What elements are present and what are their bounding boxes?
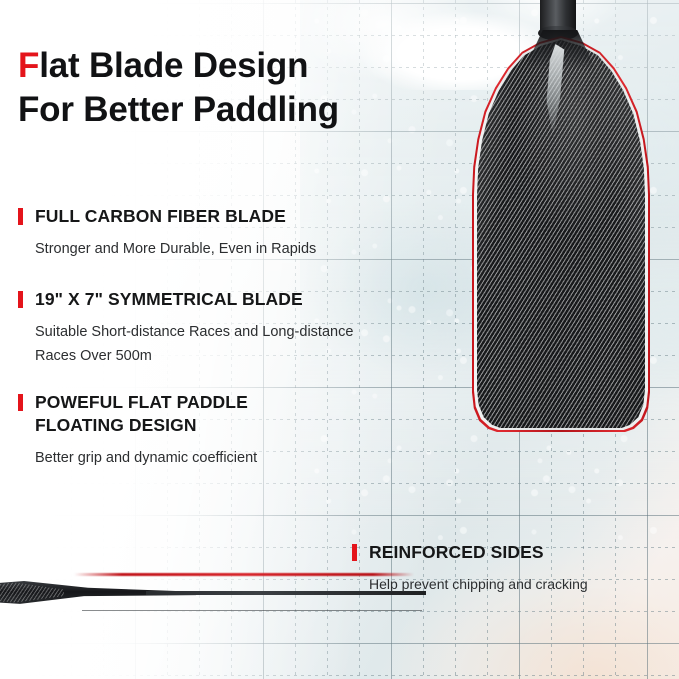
page-title: Flat Blade DesignFor Better Paddling	[18, 44, 339, 133]
feature-title: 19" X 7" SYMMETRICAL BLADE	[18, 288, 353, 311]
feature-item: POWEFUL FLAT PADDLE FLOATING DESIGN Bett…	[18, 391, 257, 470]
feature-item: REINFORCED SIDES Help prevent chipping a…	[352, 541, 588, 596]
profile-baseline	[82, 610, 422, 611]
blade-group	[466, 14, 656, 432]
feature-title: REINFORCED SIDES	[352, 541, 588, 564]
headline-accent-letter: F	[18, 46, 39, 85]
feature-title: FULL CARBON FIBER BLADE	[18, 205, 316, 228]
feature-description: Help prevent chipping and cracking	[352, 573, 588, 596]
headline-line-1: lat Blade Design	[39, 46, 308, 85]
feature-title: POWEFUL FLAT PADDLE FLOATING DESIGN	[18, 391, 257, 437]
feature-item: 19" X 7" SYMMETRICAL BLADE Suitable Shor…	[18, 288, 353, 368]
product-feature-poster: Flat Blade DesignFor Better Paddling FUL…	[0, 0, 679, 679]
feature-description: Suitable Short-distance Races and Long-d…	[18, 320, 353, 368]
feature-description: Stronger and More Durable, Even in Rapid…	[18, 237, 316, 261]
feature-description: Better grip and dynamic coefficient	[18, 446, 257, 470]
blade-carbon-weave	[477, 40, 645, 428]
feature-item: FULL CARBON FIBER BLADE Stronger and Mor…	[18, 205, 316, 261]
carbon-fiber-blade-image	[466, 0, 656, 436]
headline-line-2: For Better Paddling	[18, 90, 339, 129]
